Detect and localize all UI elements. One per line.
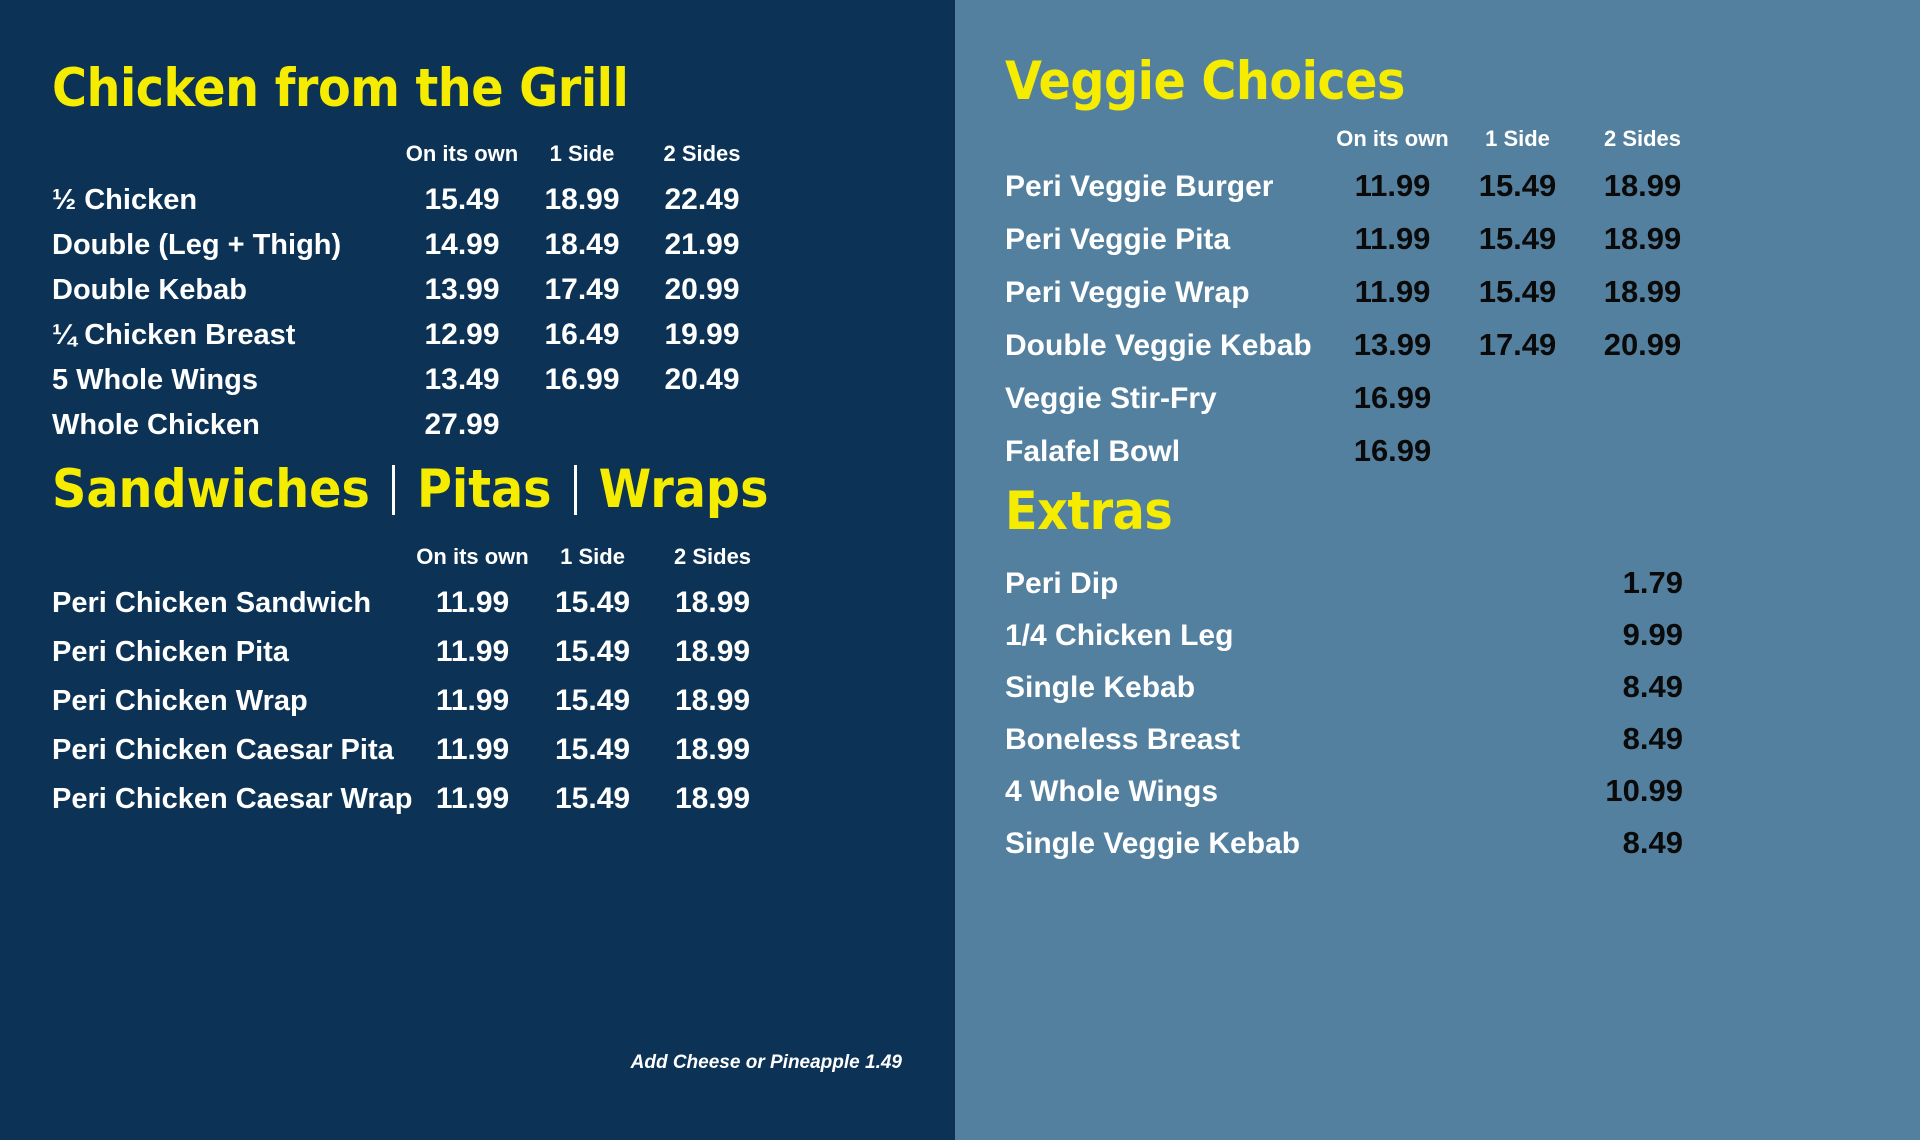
item-price-2sides bbox=[642, 408, 762, 453]
item-label: ¼ Chicken Breast bbox=[52, 318, 402, 363]
item-price-2sides: 20.99 bbox=[1580, 327, 1705, 380]
sandwiches-col-2-sides: 2 Sides bbox=[653, 544, 773, 586]
item-label: Peri Veggie Burger bbox=[1005, 168, 1330, 221]
table-row: Peri Chicken Caesar Wrap 11.99 15.49 18.… bbox=[52, 782, 773, 831]
table-row: ¼ Chicken Breast 12.99 16.49 19.99 bbox=[52, 318, 762, 363]
table-row: Double Veggie Kebab 13.99 17.49 20.99 bbox=[1005, 327, 1705, 380]
item-price-2sides: 20.49 bbox=[642, 363, 762, 408]
sandwiches-heading-part-sandwiches: Sandwiches bbox=[52, 463, 370, 516]
item-price-1side bbox=[1455, 380, 1580, 433]
item-price-2sides: 18.99 bbox=[653, 733, 773, 782]
item-label: Peri Chicken Pita bbox=[52, 635, 413, 684]
extra-price: 1.79 bbox=[1435, 565, 1683, 617]
heading-divider-2 bbox=[574, 465, 577, 515]
item-price-own: 13.99 bbox=[402, 273, 522, 318]
item-price-1side bbox=[522, 408, 642, 453]
list-item: 1/4 Chicken Leg 9.99 bbox=[1005, 617, 1683, 669]
veggie-heading: Veggie Choices bbox=[1005, 55, 1705, 108]
item-label: Double Veggie Kebab bbox=[1005, 327, 1330, 380]
table-row: Veggie Stir-Fry 16.99 bbox=[1005, 380, 1705, 433]
item-price-2sides: 21.99 bbox=[642, 228, 762, 273]
extra-price: 8.49 bbox=[1435, 669, 1683, 721]
item-label: 5 Whole Wings bbox=[52, 363, 402, 408]
item-price-own: 11.99 bbox=[413, 635, 533, 684]
item-price-1side: 15.49 bbox=[1455, 168, 1580, 221]
heading-divider-1 bbox=[392, 465, 395, 515]
item-price-own: 11.99 bbox=[1330, 221, 1455, 274]
item-price-2sides: 18.99 bbox=[653, 782, 773, 831]
grill-col-1-side: 1 Side bbox=[522, 141, 642, 183]
item-price-1side: 15.49 bbox=[1455, 221, 1580, 274]
table-row: Double (Leg + Thigh) 14.99 18.49 21.99 bbox=[52, 228, 762, 273]
extras-price-table: Peri Dip 1.79 1/4 Chicken Leg 9.99 Singl… bbox=[1005, 565, 1683, 877]
extra-label: Peri Dip bbox=[1005, 565, 1435, 617]
sandwiches-heading-part-pitas: Pitas bbox=[417, 463, 552, 516]
item-price-1side: 16.99 bbox=[522, 363, 642, 408]
extra-price: 8.49 bbox=[1435, 721, 1683, 773]
sandwiches-column-header-row: On its own 1 Side 2 Sides bbox=[52, 544, 773, 586]
item-price-own: 13.99 bbox=[1330, 327, 1455, 380]
list-item: Peri Dip 1.79 bbox=[1005, 565, 1683, 617]
item-price-2sides: 18.99 bbox=[653, 586, 773, 635]
item-price-own: 13.49 bbox=[402, 363, 522, 408]
item-price-2sides bbox=[1580, 380, 1705, 433]
table-row: ½ Chicken 15.49 18.99 22.49 bbox=[52, 183, 762, 228]
table-row: Peri Chicken Sandwich 11.99 15.49 18.99 bbox=[52, 586, 773, 635]
table-row: Peri Veggie Pita 11.99 15.49 18.99 bbox=[1005, 221, 1705, 274]
item-price-2sides: 19.99 bbox=[642, 318, 762, 363]
item-price-1side: 16.49 bbox=[522, 318, 642, 363]
item-price-2sides: 18.99 bbox=[1580, 221, 1705, 274]
list-item: Boneless Breast 8.49 bbox=[1005, 721, 1683, 773]
item-price-1side: 15.49 bbox=[1455, 274, 1580, 327]
extra-label: 1/4 Chicken Leg bbox=[1005, 617, 1435, 669]
item-price-1side: 17.49 bbox=[1455, 327, 1580, 380]
item-price-1side: 15.49 bbox=[533, 733, 653, 782]
extras-heading: Extras bbox=[1005, 485, 1683, 538]
table-row: Peri Veggie Wrap 11.99 15.49 18.99 bbox=[1005, 274, 1705, 327]
item-label: Peri Chicken Wrap bbox=[52, 684, 413, 733]
item-label: Peri Chicken Sandwich bbox=[52, 586, 413, 635]
left-panel-footnote: Add Cheese or Pineapple 1.49 bbox=[52, 1052, 902, 1074]
extras-section: Extras Peri Dip 1.79 1/4 Chicken Leg 9.9… bbox=[1005, 485, 1683, 877]
table-row: Peri Veggie Burger 11.99 15.49 18.99 bbox=[1005, 168, 1705, 221]
sandwiches-section: Sandwiches Pitas Wraps On its own 1 Side… bbox=[52, 463, 773, 831]
item-price-2sides: 20.99 bbox=[642, 273, 762, 318]
item-price-own: 14.99 bbox=[402, 228, 522, 273]
left-menu-panel: Chicken from the Grill On its own 1 Side… bbox=[0, 0, 955, 1140]
extra-label: Boneless Breast bbox=[1005, 721, 1435, 773]
item-price-1side: 15.49 bbox=[533, 782, 653, 831]
list-item: Single Kebab 8.49 bbox=[1005, 669, 1683, 721]
item-price-2sides: 18.99 bbox=[1580, 274, 1705, 327]
veggie-col-1-side: 1 Side bbox=[1455, 126, 1580, 168]
sandwiches-heading: Sandwiches Pitas Wraps bbox=[52, 463, 773, 516]
item-price-2sides: 22.49 bbox=[642, 183, 762, 228]
sandwiches-heading-part-wraps: Wraps bbox=[599, 463, 769, 516]
item-price-2sides: 18.99 bbox=[653, 684, 773, 733]
item-label: ½ Chicken bbox=[52, 183, 402, 228]
item-price-own: 27.99 bbox=[402, 408, 522, 453]
extra-label: 4 Whole Wings bbox=[1005, 773, 1435, 825]
veggie-header-spacer bbox=[1005, 126, 1330, 168]
item-label: Peri Veggie Wrap bbox=[1005, 274, 1330, 327]
veggie-col-on-its-own: On its own bbox=[1330, 126, 1455, 168]
extra-price: 9.99 bbox=[1435, 617, 1683, 669]
table-row: Peri Chicken Caesar Pita 11.99 15.49 18.… bbox=[52, 733, 773, 782]
item-price-own: 16.99 bbox=[1330, 380, 1455, 433]
veggie-section: Veggie Choices On its own 1 Side 2 Sides… bbox=[1005, 55, 1705, 486]
list-item: Single Veggie Kebab 8.49 bbox=[1005, 825, 1683, 877]
item-label: Whole Chicken bbox=[52, 408, 402, 453]
veggie-price-table: On its own 1 Side 2 Sides Peri Veggie Bu… bbox=[1005, 126, 1705, 486]
veggie-col-2-sides: 2 Sides bbox=[1580, 126, 1705, 168]
item-label: Double Kebab bbox=[52, 273, 402, 318]
list-item: 4 Whole Wings 10.99 bbox=[1005, 773, 1683, 825]
item-label: Double (Leg + Thigh) bbox=[52, 228, 402, 273]
table-row: Double Kebab 13.99 17.49 20.99 bbox=[52, 273, 762, 318]
item-price-own: 11.99 bbox=[1330, 274, 1455, 327]
item-price-own: 11.99 bbox=[413, 733, 533, 782]
item-price-2sides: 18.99 bbox=[653, 635, 773, 684]
menu-board: Chicken from the Grill On its own 1 Side… bbox=[0, 0, 1920, 1140]
grill-column-header-row: On its own 1 Side 2 Sides bbox=[52, 141, 762, 183]
right-menu-panel: Veggie Choices On its own 1 Side 2 Sides… bbox=[955, 0, 1920, 1140]
veggie-column-header-row: On its own 1 Side 2 Sides bbox=[1005, 126, 1705, 168]
table-row: Peri Chicken Pita 11.99 15.49 18.99 bbox=[52, 635, 773, 684]
item-price-1side: 15.49 bbox=[533, 635, 653, 684]
grill-col-on-its-own: On its own bbox=[402, 141, 522, 183]
sandwiches-col-1-side: 1 Side bbox=[533, 544, 653, 586]
table-row: Whole Chicken 27.99 bbox=[52, 408, 762, 453]
item-price-own: 11.99 bbox=[413, 684, 533, 733]
item-price-own: 11.99 bbox=[413, 782, 533, 831]
item-price-1side: 17.49 bbox=[522, 273, 642, 318]
sandwiches-price-table: On its own 1 Side 2 Sides Peri Chicken S… bbox=[52, 544, 773, 831]
item-price-1side: 18.49 bbox=[522, 228, 642, 273]
grill-section: Chicken from the Grill On its own 1 Side… bbox=[52, 62, 762, 453]
extra-price: 8.49 bbox=[1435, 825, 1683, 877]
grill-heading: Chicken from the Grill bbox=[52, 62, 762, 115]
item-price-2sides: 18.99 bbox=[1580, 168, 1705, 221]
sandwiches-header-spacer bbox=[52, 544, 413, 586]
extra-label: Single Kebab bbox=[1005, 669, 1435, 721]
item-label: Peri Chicken Caesar Wrap bbox=[52, 782, 413, 831]
item-label: Peri Chicken Caesar Pita bbox=[52, 733, 413, 782]
item-price-1side: 18.99 bbox=[522, 183, 642, 228]
item-price-1side: 15.49 bbox=[533, 684, 653, 733]
item-price-own: 15.49 bbox=[402, 183, 522, 228]
table-row: 5 Whole Wings 13.49 16.99 20.49 bbox=[52, 363, 762, 408]
item-price-own: 11.99 bbox=[1330, 168, 1455, 221]
item-label: Peri Veggie Pita bbox=[1005, 221, 1330, 274]
grill-col-2-sides: 2 Sides bbox=[642, 141, 762, 183]
table-row: Peri Chicken Wrap 11.99 15.49 18.99 bbox=[52, 684, 773, 733]
item-price-own: 11.99 bbox=[413, 586, 533, 635]
extra-label: Single Veggie Kebab bbox=[1005, 825, 1435, 877]
grill-price-table: On its own 1 Side 2 Sides ½ Chicken 15.4… bbox=[52, 141, 762, 453]
grill-header-spacer bbox=[52, 141, 402, 183]
extra-price: 10.99 bbox=[1435, 773, 1683, 825]
item-label: Veggie Stir-Fry bbox=[1005, 380, 1330, 433]
sandwiches-col-on-its-own: On its own bbox=[413, 544, 533, 586]
item-price-1side: 15.49 bbox=[533, 586, 653, 635]
item-price-own: 12.99 bbox=[402, 318, 522, 363]
